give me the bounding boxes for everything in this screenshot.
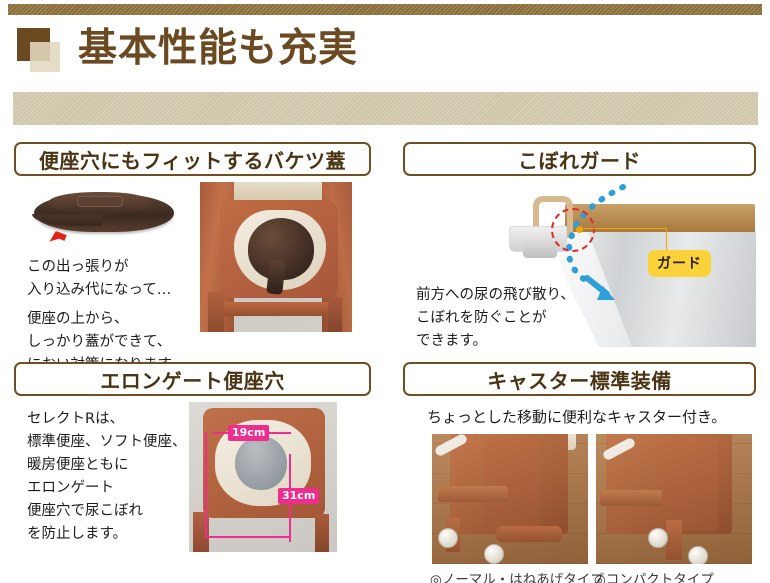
caster-wheel-rear-2 [648, 528, 668, 548]
bucket-lid-illustration [30, 188, 180, 250]
caster-leg-left-2 [666, 520, 682, 560]
panel-body-elongated-seat-hole: セレクトRは、 標準便座、ソフト便座、 暖房便座ともに エロンゲート 便座穴で尿… [14, 396, 371, 571]
guard-callout-label: ガード [648, 250, 711, 277]
caster-wheel-front [484, 544, 504, 564]
panel-title-standard-casters: キャスター標準装備 [403, 362, 756, 396]
elongated-seat-hole-text: セレクトRは、 標準便座、ソフト便座、 暖房便座ともに エロンゲート 便座穴で尿… [27, 408, 187, 546]
panel-title-bucket-lid: 便座穴にもフィットするバケツ蓋 [14, 142, 371, 176]
panel-title-elongated-seat-hole: エロンゲート便座穴 [14, 362, 371, 396]
seat-right-leg [315, 514, 329, 552]
dimension-width-label: 19cm [228, 425, 269, 441]
caster-side-panel-2 [658, 438, 718, 530]
commode-open-lid-photo [200, 182, 352, 332]
panel-body-standard-casters: ちょっとした移動に便利なキャスター付き。 [403, 396, 756, 583]
page-title: 基本性能も充実 [78, 20, 358, 78]
panel-title-spill-guard: こぼれガード [403, 142, 756, 176]
red-pointer-arrow-icon [47, 230, 61, 241]
caster-foot-rail [496, 526, 562, 542]
panel-elongated-seat-hole: エロンゲート便座穴 セレクトRは、 標準便座、ソフト便座、 暖房便座ともに エロ… [14, 362, 371, 571]
commode-right-leg [328, 298, 342, 332]
bucket-lid-text-1: この出っ張りが 入り込み代になって… [27, 256, 171, 302]
header-band-divider [13, 92, 758, 125]
panel-standard-casters: キャスター標準装備 ちょっとした移動に便利なキャスター付き。 [403, 362, 756, 583]
commode-front-rail [220, 302, 336, 316]
elongated-seat-illustration: 19cm 31cm [189, 402, 337, 552]
panel-body-spill-guard: ガード 前方への尿の飛び散り、 こぼれを防ぐことが できます。 [403, 176, 756, 351]
feature-page: 基本性能も充実 便座穴にもフィットするバケツ蓋 この出っ張りが 入り込み代になっ… [0, 0, 770, 583]
standard-casters-text: ちょっとした移動に便利なキャスター付き。 [427, 406, 726, 429]
caster-side-panel [484, 438, 540, 530]
spill-guard-text: 前方への尿の飛び散り、 こぼれを防ぐことが できます。 [416, 284, 575, 353]
caster-caption-compact: ◎コンパクトタイプ [594, 568, 714, 583]
dimension-depth-label: 31cm [278, 488, 319, 504]
caster-wheel-front-2 [688, 546, 708, 564]
dimension-line-bottom [207, 536, 291, 538]
guard-anchor-dot-icon [576, 226, 583, 233]
panel-bucket-lid: 便座穴にもフィットするバケツ蓋 この出っ張りが 入り込み代になって… 便座の上か… [14, 142, 371, 346]
seat-hole [235, 436, 287, 490]
lid-lip-shape [32, 214, 102, 226]
caster-photo-normal [432, 434, 588, 564]
commode-left-leg [208, 292, 224, 332]
square-marker-icon [17, 28, 63, 74]
caster-photo-compact [596, 434, 752, 564]
panel-body-bucket-lid: この出っ張りが 入り込み代になって… 便座の上から、 しっかり蓋ができて、 にお… [14, 176, 371, 346]
lid-handle-shape [77, 196, 123, 207]
caster-wheel-rear [438, 528, 458, 548]
panel-spill-guard: こぼれガード ガード 前方への尿の飛び散り、 こぼれを防ぐこと [403, 142, 756, 351]
elongated-seat-photo: 19cm 31cm [189, 402, 337, 552]
caster-cross-bar-2 [600, 490, 662, 506]
dimension-line-left [205, 432, 207, 538]
caster-cross-bar [438, 486, 508, 502]
square-marker-light [30, 42, 60, 72]
commode-illustration [200, 182, 352, 332]
top-rule-divider [8, 4, 762, 15]
caster-caption-normal: ◎ノーマル・はねあげタイプ [430, 568, 604, 583]
